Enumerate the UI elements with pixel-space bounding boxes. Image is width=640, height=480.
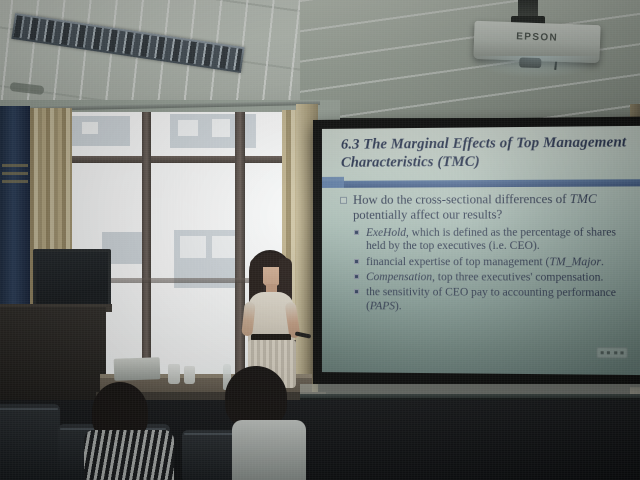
bullet-text: Compensation, top three executives' comp… (366, 271, 603, 284)
bullet-square-icon (340, 197, 347, 204)
computer-monitor (33, 249, 111, 311)
bullet-square-icon (354, 289, 359, 294)
bullet-square-icon (354, 259, 359, 264)
slideshow-controls-widget[interactable] (596, 347, 627, 358)
slide-bullet-level2: ExeHold, which is defined as the percent… (339, 226, 628, 254)
bullet-emph: ExeHold (366, 227, 406, 239)
chair-highlight (0, 408, 58, 410)
bullet-text: How do the cross-sectional differences o… (353, 192, 597, 223)
pen-icon[interactable] (607, 351, 610, 354)
outside-window-pane (212, 119, 230, 137)
bullet-emph: TM_Major (549, 256, 601, 268)
outside-window-pane (178, 120, 198, 136)
outside-window-pane (180, 236, 206, 258)
bullet-emph: TMC (570, 192, 597, 206)
menu-icon[interactable] (614, 351, 617, 354)
bullet-emph: Compensation (366, 271, 432, 283)
next-slide-icon[interactable] (621, 351, 624, 354)
audience-member-light-body (232, 420, 306, 480)
curtain-navy-left (0, 106, 30, 326)
slide-bullet-level2: the sensitivity of CEO pay to accounting… (339, 286, 628, 315)
outside-window-pane (212, 236, 236, 258)
lecture-room-photo: EPSON 6.3 The Marginal Effects (0, 0, 640, 480)
paper-cup (168, 364, 180, 384)
bullet-text: financial expertise of top management (T… (366, 256, 604, 268)
slide-bullet-level2: Compensation, top three executives' comp… (339, 271, 628, 285)
paper-cup (184, 366, 195, 384)
slide-bullet-level1: How do the cross-sectional differences o… (339, 192, 628, 224)
audience-member-head (225, 366, 287, 428)
bullet-square-icon (354, 274, 359, 279)
slide-divider-bar (322, 179, 640, 188)
bullet-text: ExeHold, which is defined as the percent… (366, 226, 616, 252)
curtain-stripe (2, 172, 28, 175)
audience-member-striped-body (84, 430, 174, 480)
curtain-stripe (2, 180, 28, 183)
bullet-text: the sensitivity of CEO pay to accounting… (366, 286, 616, 312)
monitor-screen (36, 252, 108, 308)
slide-bullet-level2: financial expertise of top management (T… (339, 256, 628, 270)
bullet-emph: PAPS (370, 300, 395, 312)
projector-lens-icon (519, 57, 541, 68)
window-mullion-horizontal (62, 156, 312, 163)
outside-building (68, 116, 130, 146)
projector: EPSON (473, 21, 600, 63)
window-mullion-vertical (142, 112, 151, 382)
chair (0, 404, 60, 480)
prev-slide-icon[interactable] (600, 351, 603, 354)
slide-title-line2: Characteristics (TMC) (341, 152, 628, 172)
slide-body: How do the cross-sectional differences o… (339, 192, 628, 317)
slide-divider-tab (322, 177, 344, 188)
curtain-stripe (2, 164, 28, 167)
projection-screen: 6.3 The Marginal Effects of Top Manageme… (313, 117, 640, 388)
slide-title-line1: 6.3 The Marginal Effects of Top Manageme… (341, 134, 628, 154)
bullet-square-icon (354, 230, 359, 235)
presentation-slide: 6.3 The Marginal Effects of Top Manageme… (322, 126, 640, 375)
outside-window-pane (82, 122, 98, 134)
laptop-on-desk (114, 357, 161, 381)
projector-brand-label: EPSON (474, 30, 600, 45)
slide-title: 6.3 The Marginal Effects of Top Manageme… (341, 134, 628, 172)
